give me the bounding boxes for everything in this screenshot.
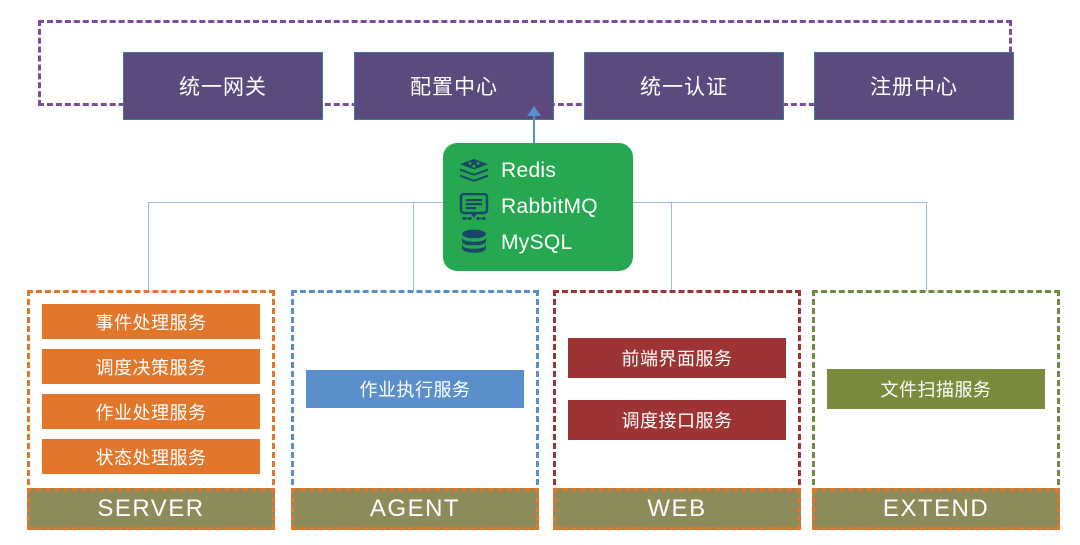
mysql-icon [457,228,491,258]
service-box-job-processing[interactable]: 作业处理服务 [42,394,260,429]
group-web: 前端界面服务 调度接口服务 WEB [553,290,801,530]
service-label: 调度接口服务 [622,407,733,433]
group-extend: 文件扫描服务 EXTEND [812,290,1060,530]
service-box-job-execution[interactable]: 作业执行服务 [306,370,524,408]
service-label: 调度决策服务 [96,354,207,380]
group-label-extend: EXTEND [812,488,1060,530]
platform-box-config-center[interactable]: 配置中心 [354,52,554,120]
platform-box-label: 统一认证 [640,71,728,101]
service-box-schedule-decision[interactable]: 调度决策服务 [42,349,260,384]
service-box-file-scan[interactable]: 文件扫描服务 [827,369,1045,409]
arrow-up-line [533,113,535,145]
connector-drop-web [671,202,672,291]
group-label-text: AGENT [370,495,460,523]
group-label-text: WEB [647,495,706,523]
platform-box-label: 注册中心 [870,71,958,101]
group-label-text: SERVER [97,495,204,523]
group-server-body: 事件处理服务 调度决策服务 作业处理服务 状态处理服务 [30,293,272,485]
group-agent: 作业执行服务 AGENT [291,290,539,530]
service-label: 状态处理服务 [96,444,207,470]
connector-drop-agent [413,202,414,291]
middleware-item-label: RabbitMQ [501,195,598,219]
redis-icon [457,156,491,186]
group-label-server: SERVER [27,488,275,530]
middleware-item-label: Redis [501,159,556,183]
architecture-diagram: 统一网关 配置中心 统一认证 注册中心 [0,0,1080,545]
platform-layer-container: 统一网关 配置中心 统一认证 注册中心 [38,20,1012,106]
platform-box-unified-gateway[interactable]: 统一网关 [123,52,323,120]
service-label: 作业执行服务 [360,376,471,402]
group-label-web: WEB [553,488,801,530]
service-box-event-processing[interactable]: 事件处理服务 [42,304,260,339]
middleware-box[interactable]: Redis RabbitMQ [443,143,633,271]
group-label-text: EXTEND [883,495,989,523]
platform-box-registry-center[interactable]: 注册中心 [814,52,1014,120]
service-box-status-processing[interactable]: 状态处理服务 [42,439,260,474]
middleware-item-label: MySQL [501,231,573,255]
service-box-frontend-ui[interactable]: 前端界面服务 [568,338,786,378]
service-label: 文件扫描服务 [881,376,992,402]
group-label-agent: AGENT [291,488,539,530]
platform-box-label: 配置中心 [410,71,498,101]
group-agent-body: 作业执行服务 [294,293,536,485]
service-label: 前端界面服务 [622,345,733,371]
group-extend-body: 文件扫描服务 [815,293,1057,485]
platform-box-unified-auth[interactable]: 统一认证 [584,52,784,120]
service-label: 作业处理服务 [96,399,207,425]
connector-drop-extend [926,202,927,291]
middleware-item-rabbitmq[interactable]: RabbitMQ [457,190,633,224]
platform-box-label: 统一网关 [179,71,267,101]
service-box-schedule-api[interactable]: 调度接口服务 [568,400,786,440]
group-server: 事件处理服务 调度决策服务 作业处理服务 状态处理服务 SERVER [27,290,275,530]
service-label: 事件处理服务 [96,309,207,335]
rabbitmq-icon [457,192,491,222]
middleware-item-redis[interactable]: Redis [457,154,633,188]
group-web-body: 前端界面服务 调度接口服务 [556,293,798,485]
connector-drop-server [148,202,149,291]
middleware-item-mysql[interactable]: MySQL [457,226,633,260]
